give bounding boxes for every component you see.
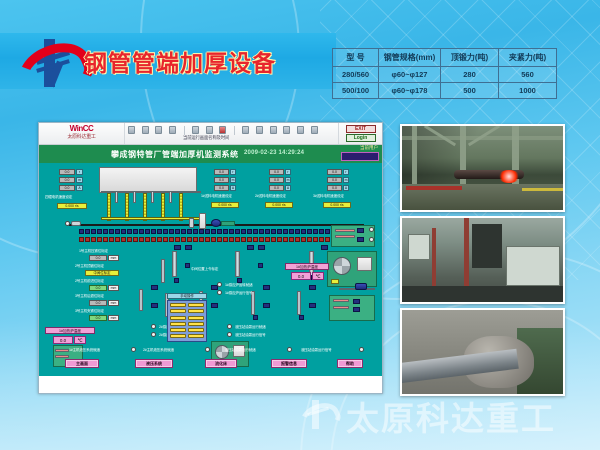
hydraulic-line bbox=[55, 349, 69, 352]
roller-chain bbox=[79, 229, 354, 234]
cylinder bbox=[235, 251, 240, 277]
param-readout: 0.000 r/s bbox=[265, 202, 293, 208]
record-icon[interactable] bbox=[219, 126, 226, 134]
hmi-system-title: 攀成钢特管厂管端加厚机监测系统 bbox=[111, 149, 239, 160]
hmi-window-buttons: EXIT Login bbox=[338, 123, 382, 144]
gearbox bbox=[221, 221, 235, 226]
cell-clamp-force: 1000 bbox=[499, 83, 557, 99]
hydraulic-line bbox=[335, 235, 355, 238]
hmi-timestamp: 2009-02-23 14:29:24 bbox=[244, 150, 304, 156]
cell-clamp-force: 560 bbox=[499, 67, 557, 83]
setting-value[interactable]: 0.0 bbox=[89, 255, 107, 261]
toolbar-divider bbox=[234, 126, 235, 135]
tank-box bbox=[357, 257, 372, 271]
table-row: 280/560 φ60~φ127 280 560 bbox=[333, 67, 557, 83]
feed-roller bbox=[71, 221, 81, 226]
process-pipe bbox=[151, 191, 154, 203]
param-caption: 1#送料电机速度设定 bbox=[201, 194, 232, 199]
valve bbox=[309, 303, 316, 308]
center-position-label: 中间位置上令标定 bbox=[191, 267, 218, 272]
status-led[interactable] bbox=[151, 332, 156, 337]
setting-value[interactable]: 0.0 bbox=[89, 300, 107, 306]
pump-motor bbox=[355, 283, 367, 290]
align-icon[interactable] bbox=[283, 126, 290, 134]
toolbar-divider bbox=[184, 126, 185, 135]
table-header-row: 型 号 钢管规格(mm) 顶锻力(吨) 夹紧力(吨) bbox=[333, 49, 557, 67]
param-caption: 2#送料电机速度设定 bbox=[255, 194, 286, 199]
valve bbox=[321, 245, 328, 250]
keypad-key[interactable] bbox=[188, 303, 204, 307]
valve bbox=[263, 285, 270, 290]
col-header-pipe-size: 钢管规格(mm) bbox=[379, 49, 441, 67]
cell-upset-force: 500 bbox=[441, 83, 499, 99]
valve bbox=[357, 237, 364, 242]
valve bbox=[247, 245, 254, 250]
valve bbox=[357, 228, 364, 233]
col-header-model: 型 号 bbox=[333, 49, 379, 67]
hmi-toolbar: WinCC 太原科达重工 当前运行画面名称及时间 EXIT Login bbox=[39, 123, 382, 145]
status-led[interactable] bbox=[359, 347, 364, 352]
cell-upset-force: 280 bbox=[441, 67, 499, 83]
nav-button-hydraulics[interactable]: 液压系统 bbox=[135, 359, 173, 368]
status-label: 液压站油泵运行就绪 bbox=[235, 325, 266, 330]
param-readout: 0.000 r/s bbox=[211, 202, 239, 208]
process-pipe bbox=[115, 191, 118, 203]
col-header-upset-force: 顶锻力(吨) bbox=[441, 49, 499, 67]
setting-value[interactable]: 0.0 bbox=[89, 315, 107, 321]
valve bbox=[151, 303, 158, 308]
nav-button-main[interactable]: 主画面 bbox=[65, 359, 99, 368]
current-user-field[interactable] bbox=[341, 152, 379, 161]
wincc-subtitle: 太原科达重工 bbox=[39, 133, 124, 140]
valve bbox=[258, 263, 263, 268]
status-led[interactable] bbox=[369, 227, 374, 232]
setting-label: 1号主机压紧位标定 bbox=[79, 249, 108, 254]
param-caption: 四辊电机速度设定 bbox=[45, 195, 72, 200]
status-led[interactable] bbox=[227, 324, 232, 329]
status-label: 1#感应炉运转就绪 bbox=[225, 283, 252, 288]
heater-temp-value: 0.0 bbox=[53, 336, 73, 344]
nav-button-fluidbed[interactable]: 流化床 bbox=[205, 359, 237, 368]
valve bbox=[174, 278, 179, 283]
valve bbox=[353, 307, 360, 312]
param-readout: 0.000 r/s bbox=[57, 203, 87, 209]
process-pipe bbox=[133, 191, 136, 203]
yellow-bar bbox=[101, 217, 203, 220]
properties-icon[interactable] bbox=[311, 126, 318, 134]
hydraulic-line bbox=[333, 299, 349, 302]
watermark-logo bbox=[302, 398, 342, 432]
keypad-key[interactable] bbox=[170, 322, 186, 326]
photo-rolling-line bbox=[400, 124, 565, 212]
status-label: 1#感应炉运行信号 bbox=[225, 291, 252, 296]
layers-icon[interactable] bbox=[297, 126, 304, 134]
valve bbox=[211, 303, 218, 308]
keypad-key[interactable] bbox=[170, 328, 186, 332]
save-icon[interactable] bbox=[142, 126, 149, 134]
page-title: 钢管管端加厚设备 bbox=[84, 44, 276, 78]
valve bbox=[253, 315, 258, 320]
setting-label: 3号主机夹紧位标定 bbox=[75, 309, 104, 314]
keypad-key[interactable] bbox=[170, 303, 186, 307]
valve bbox=[185, 263, 190, 268]
status-label: 液压站油泵运行就绪 bbox=[225, 348, 256, 353]
spec-table: 型 号 钢管规格(mm) 顶锻力(吨) 夹紧力(吨) 280/560 φ60~φ… bbox=[332, 48, 557, 99]
valve bbox=[151, 285, 158, 290]
status-led[interactable] bbox=[217, 290, 222, 295]
zoom-in-icon[interactable] bbox=[242, 126, 249, 134]
hmi-process-diagram: 0.0 r 0.0 m 0.0 A 四辊电机速度设定 0.000 r/s 0.0… bbox=[39, 163, 382, 376]
keypad-grid[interactable] bbox=[167, 300, 207, 342]
watermark-text: 太原科达重工 bbox=[346, 392, 556, 440]
copy-icon[interactable] bbox=[192, 126, 199, 134]
keypad-key[interactable] bbox=[188, 322, 204, 326]
keypad-title: 手动操作 bbox=[167, 293, 207, 299]
param-readout: 0.000 r/s bbox=[323, 202, 351, 208]
grid-icon[interactable] bbox=[270, 126, 277, 134]
cylinder bbox=[297, 291, 301, 315]
machine-frame bbox=[99, 167, 197, 193]
status-led[interactable] bbox=[227, 332, 232, 337]
hydraulic-line bbox=[335, 229, 355, 232]
valve bbox=[353, 299, 360, 304]
process-pipe bbox=[169, 191, 172, 203]
setting-value[interactable]: 0.0 bbox=[89, 285, 107, 291]
keypad-key[interactable] bbox=[188, 316, 204, 320]
valve bbox=[185, 245, 192, 250]
induction-temp-label: 1#加热炉温度 bbox=[285, 263, 329, 270]
status-led[interactable] bbox=[205, 347, 210, 352]
zoom-out-icon[interactable] bbox=[256, 126, 263, 134]
status-led[interactable] bbox=[151, 324, 156, 329]
current-user-label: 当前用户 bbox=[360, 145, 378, 151]
keypad-key[interactable] bbox=[170, 316, 186, 320]
login-button[interactable]: Login bbox=[346, 134, 376, 142]
table-row: 500/100 φ60~φ178 500 1000 bbox=[333, 83, 557, 99]
print-icon[interactable] bbox=[155, 126, 162, 134]
status-label: 2#主机液压系统就绪 bbox=[143, 348, 174, 353]
exit-button[interactable]: EXIT bbox=[346, 125, 376, 133]
drive-motor bbox=[211, 219, 221, 227]
setting-value[interactable]: 中间位标定 bbox=[85, 270, 119, 276]
param-caption: 3#送料电机速度设定 bbox=[313, 194, 344, 199]
sensor-box bbox=[199, 213, 206, 229]
process-pipe bbox=[189, 218, 194, 228]
induction-temp-value: 0.0 bbox=[291, 272, 311, 280]
heater-temp-label: 1#加热炉温度 bbox=[45, 327, 95, 334]
paste-icon[interactable] bbox=[206, 126, 213, 134]
keypad-key[interactable] bbox=[170, 309, 186, 313]
photo-plant-interior bbox=[400, 216, 565, 304]
setting-label: 2号主机前进位标定 bbox=[75, 279, 104, 284]
cell-model: 500/100 bbox=[333, 83, 379, 99]
setting-label: 2号主机顶锻位标定 bbox=[75, 264, 104, 269]
roller-chain bbox=[79, 237, 354, 242]
status-led[interactable] bbox=[65, 221, 70, 226]
keypad-key[interactable] bbox=[170, 334, 186, 338]
cell-model: 280/560 bbox=[333, 67, 379, 83]
hmi-screenshot: WinCC 太原科达重工 当前运行画面名称及时间 EXIT Login bbox=[38, 122, 383, 394]
cut-icon[interactable] bbox=[169, 126, 176, 134]
valve bbox=[299, 315, 304, 320]
keypad-key[interactable] bbox=[188, 309, 204, 313]
valve bbox=[258, 245, 265, 250]
watermark: 太原科达重工 bbox=[302, 392, 592, 438]
photo-upset-pipe-end bbox=[400, 308, 565, 396]
setting-label: 3号主机后退位标定 bbox=[75, 294, 104, 299]
status-led[interactable] bbox=[369, 237, 374, 242]
cell-pipe-size: φ60~φ127 bbox=[379, 67, 441, 83]
toolbar-icons[interactable]: 当前运行画面名称及时间 bbox=[125, 123, 338, 144]
cylinder bbox=[161, 259, 165, 283]
valve bbox=[174, 245, 181, 250]
wincc-logo-text: WinCC bbox=[39, 124, 124, 133]
status-led[interactable] bbox=[287, 347, 292, 352]
keypad-key[interactable] bbox=[188, 334, 204, 338]
status-led[interactable] bbox=[217, 282, 222, 287]
toolbar-caption: 当前运行画面名称及时间 bbox=[183, 135, 229, 141]
status-label: 液压站油泵运行信号 bbox=[235, 333, 266, 338]
valve bbox=[263, 303, 270, 308]
wincc-brand: WinCC 太原科达重工 bbox=[39, 123, 125, 144]
pump-dial bbox=[333, 257, 351, 275]
hydraulic-line bbox=[333, 306, 349, 309]
status-led[interactable] bbox=[131, 347, 136, 352]
nav-button-help[interactable]: 帮助 bbox=[337, 359, 363, 368]
col-header-clamp-force: 夹紧力(吨) bbox=[499, 49, 557, 67]
open-icon[interactable] bbox=[128, 126, 135, 134]
valve bbox=[309, 285, 316, 290]
cylinder bbox=[172, 251, 177, 277]
status-label: 液压站油泵运行信号 bbox=[301, 348, 332, 353]
cylinder bbox=[139, 289, 143, 311]
hydraulic-line bbox=[55, 355, 69, 358]
status-label: 1#主机液压系统就绪 bbox=[69, 348, 100, 353]
hmi-title-bar: 攀成钢特管厂管端加厚机监测系统 2009-02-23 14:29:24 当前用户 bbox=[39, 145, 382, 163]
keypad-key[interactable] bbox=[188, 328, 204, 332]
nav-button-alarms[interactable]: 报警信息 bbox=[271, 359, 307, 368]
cell-pipe-size: φ60~φ178 bbox=[379, 83, 441, 99]
